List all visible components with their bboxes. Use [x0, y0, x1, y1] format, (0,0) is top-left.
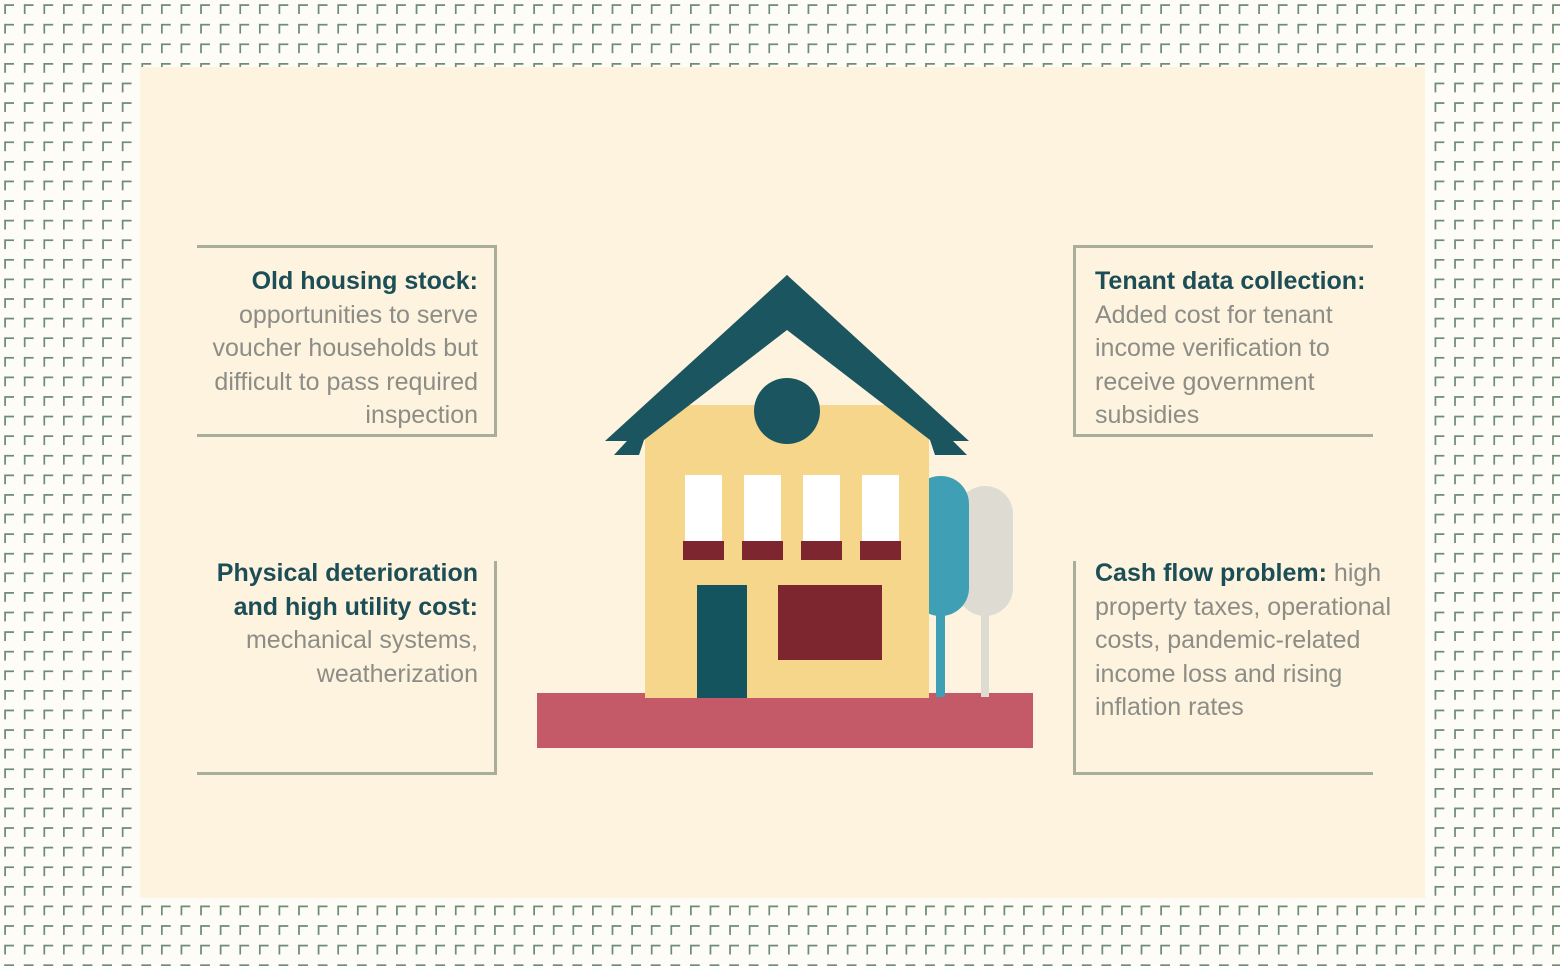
callout-tenant-data-collection: Tenant data collection: Added cost for t…: [1095, 265, 1391, 433]
callout-lead-tenant-data-collection: Tenant data collection:: [1095, 267, 1365, 295]
callout-lead-physical-deterioration: Physical deterioration and high utility …: [217, 559, 478, 621]
callout-body-old-housing-stock: opportunities to serve voucher household…: [213, 301, 478, 430]
ground-bar: [537, 693, 1033, 748]
callout-body-physical-deterioration: mechanical systems, weatherization: [246, 626, 478, 688]
callout-physical-deterioration: Physical deterioration and high utility …: [170, 557, 478, 691]
upper-window-4: [860, 475, 901, 560]
round-attic-window: [754, 378, 820, 444]
callout-body-tenant-data-collection: Added cost for tenant income verificatio…: [1095, 301, 1333, 430]
upper-window-2: [742, 475, 783, 560]
callout-lead-cash-flow-problem: Cash flow problem:: [1095, 559, 1327, 587]
callout-cash-flow-problem: Cash flow problem: high property taxes, …: [1095, 557, 1391, 725]
callout-lead-old-housing-stock: Old housing stock:: [252, 267, 478, 295]
wall-panel: [778, 585, 882, 660]
callout-old-housing-stock: Old housing stock: opportunities to serv…: [170, 265, 478, 433]
upper-window-3: [801, 475, 842, 560]
upper-window-1: [683, 475, 724, 560]
front-door: [697, 585, 747, 698]
infographic-page: Challenges of Operating NOAH in Detroit …: [0, 0, 1560, 966]
house-illustration: [520, 255, 1050, 765]
